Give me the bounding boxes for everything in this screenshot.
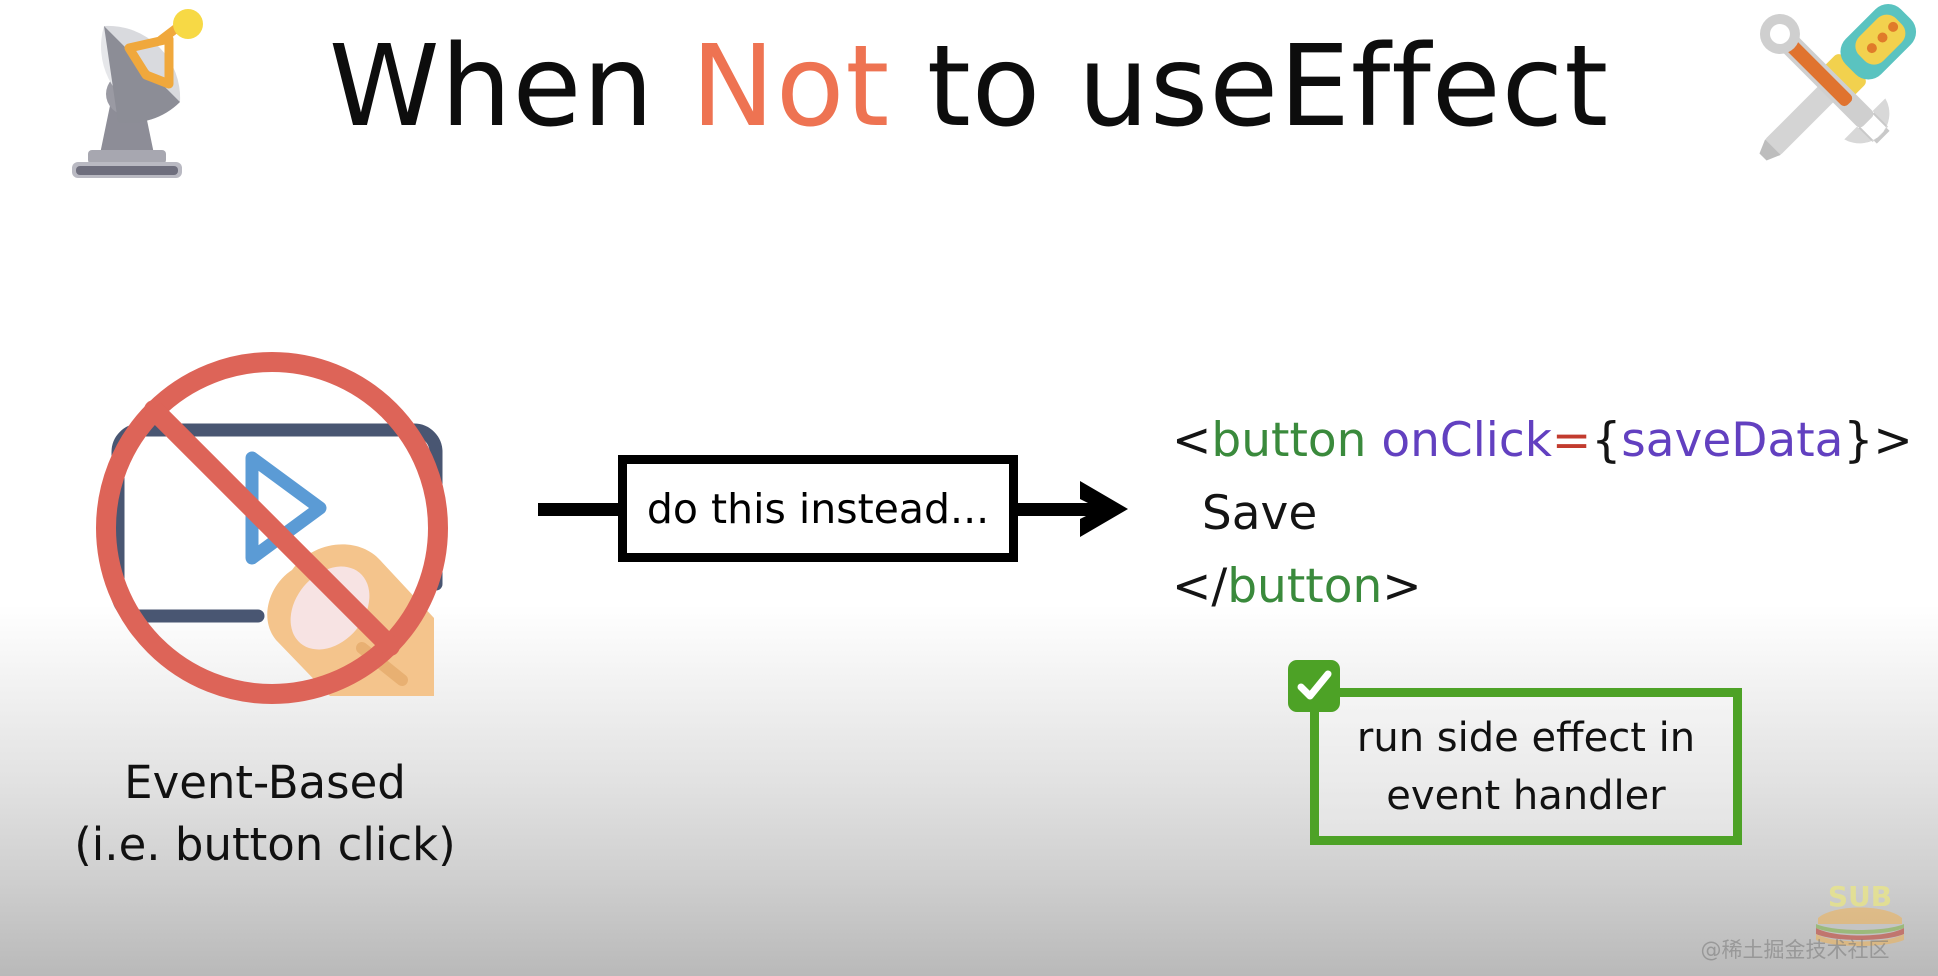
code-token-punct	[1366, 413, 1381, 468]
code-line: <button onClick={saveData}>	[1172, 404, 1913, 477]
title-text-before: When	[329, 22, 691, 152]
code-token-punct: {	[1591, 413, 1621, 468]
watermark-text: @稀土掘金技术社区	[1660, 934, 1930, 964]
code-token-tag: button	[1211, 413, 1366, 468]
satellite-dish-icon	[30, 4, 230, 184]
page-title: When Not to useEffect	[0, 12, 1938, 162]
callout-box: run side effect in event handler	[1310, 688, 1742, 845]
code-token-attr: onClick	[1381, 413, 1552, 468]
left-caption: Event-Based (i.e. button click)	[20, 752, 510, 876]
title-text-accent: Not	[691, 22, 890, 152]
callout-line-2: event handler	[1386, 767, 1665, 825]
arrow-label-text: do this instead...	[647, 485, 989, 533]
no-click-prohibited-icon	[62, 318, 482, 738]
caption-line-2: (i.e. button click)	[20, 814, 510, 876]
code-token-text: Save	[1172, 486, 1317, 541]
code-token-punct: <	[1172, 413, 1211, 468]
caption-line-1: Event-Based	[20, 752, 510, 814]
checkmark-icon	[1288, 660, 1340, 712]
code-line: Save	[1172, 477, 1913, 550]
arrow-head-icon	[1074, 477, 1136, 541]
code-token-punct: >	[1873, 413, 1912, 468]
callout-line-1: run side effect in	[1357, 709, 1695, 767]
slide-canvas: When Not to useEffect	[0, 0, 1938, 976]
code-token-tag: button	[1227, 559, 1382, 614]
code-token-punct: </	[1172, 559, 1227, 614]
code-line: </button>	[1172, 550, 1913, 623]
code-token-val: saveData	[1621, 413, 1843, 468]
arrow-shaft-left	[538, 503, 628, 516]
code-token-punct: }	[1843, 413, 1873, 468]
arrow-label-box: do this instead...	[618, 455, 1018, 562]
hammer-and-wrench-icon	[1728, 0, 1938, 175]
code-token-punct: >	[1382, 559, 1421, 614]
title-text-after: to useEffect	[890, 22, 1609, 152]
instruction-arrow: do this instead...	[538, 455, 1148, 570]
code-snippet: <button onClick={saveData}> Save</button…	[1172, 404, 1913, 623]
code-token-eq: =	[1552, 413, 1591, 468]
